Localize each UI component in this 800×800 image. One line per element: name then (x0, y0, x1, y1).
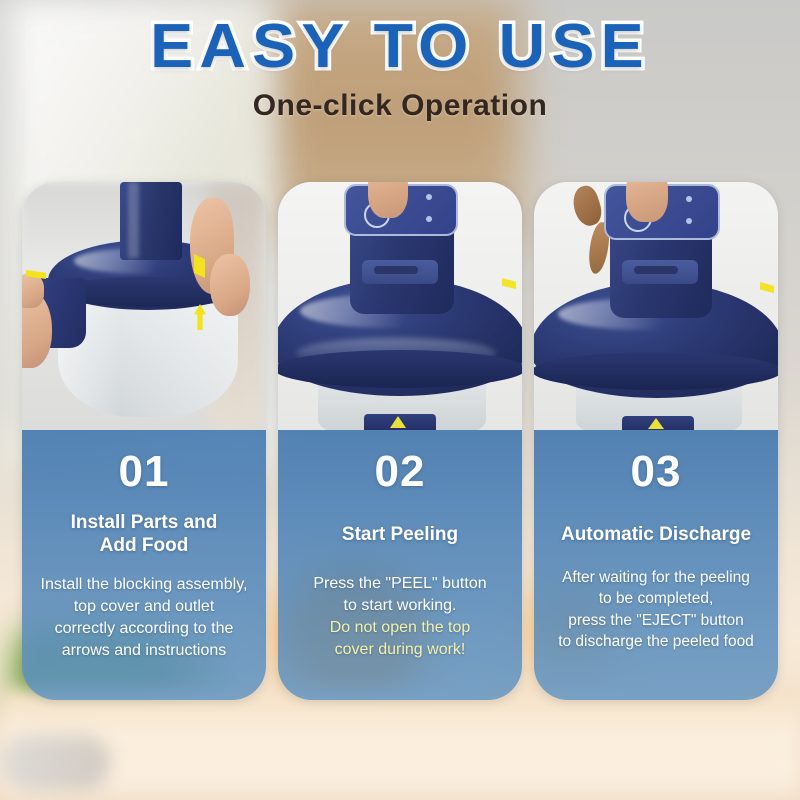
step-desc-02-line2: to start working. (344, 597, 457, 614)
step-desc-02-line1: Press the "PEEL" button (313, 575, 486, 592)
step-title-01-line2: Add Food (100, 535, 189, 556)
step-desc-01-line2: top cover and outlet (74, 598, 215, 615)
page-subtitle: One-click Operation (0, 89, 800, 123)
step-desc-03-line3: press the "EJECT" button (568, 612, 744, 629)
background-countertop-edge (0, 757, 800, 800)
step-desc-02-warn1: Do not open the top (330, 619, 471, 636)
product-infographic-poster: EASY TO USE One-click Operation (0, 0, 800, 800)
step-caption-03: 03 Automatic Discharge After waiting for… (534, 430, 778, 700)
step-caption-02: 02 Start Peeling Press the "PEEL" button… (278, 430, 522, 700)
step-card-03: 03 Automatic Discharge After waiting for… (534, 182, 778, 700)
step-photo-01 (22, 182, 266, 430)
step-card-01: 01 Install Parts and Add Food Install th… (22, 182, 266, 700)
step-title-03: Automatic Discharge (542, 524, 770, 547)
step-title-01: Install Parts and Add Food (30, 512, 258, 558)
step-desc-03-line1: After waiting for the peeling (562, 569, 750, 586)
step-number-01: 01 (30, 450, 258, 494)
step-desc-01-line4: arrows and instructions (62, 642, 227, 659)
step-number-03: 03 (542, 450, 770, 494)
step-desc-01: Install the blocking assembly, top cover… (30, 574, 258, 662)
step-card-02: 02 Start Peeling Press the "PEEL" button… (278, 182, 522, 700)
step-caption-01: 01 Install Parts and Add Food Install th… (22, 430, 266, 700)
poster-header: EASY TO USE One-click Operation (0, 0, 800, 123)
step-desc-03-line4: to discharge the peeled food (558, 633, 754, 650)
step-title-01-line1: Install Parts and (71, 512, 218, 533)
step-number-02: 02 (286, 450, 514, 494)
step-desc-02: Press the "PEEL" button to start working… (286, 573, 514, 661)
pressing-finger (368, 182, 408, 218)
background-utensil (0, 735, 110, 790)
step-desc-01-line3: correctly according to the (55, 620, 234, 637)
step-desc-02-warn2: cover during work! (335, 641, 466, 658)
step-desc-01-line1: Install the blocking assembly, (41, 576, 248, 593)
step-photo-03 (534, 182, 778, 430)
step-title-02: Start Peeling (286, 524, 514, 547)
step-desc-03: After waiting for the peeling to be comp… (542, 567, 770, 653)
pressing-finger (626, 182, 668, 222)
page-title: EASY TO USE (0, 14, 800, 79)
step-photo-02 (278, 182, 522, 430)
step-card-list: 01 Install Parts and Add Food Install th… (22, 182, 778, 700)
step-desc-03-line2: to be completed, (599, 590, 714, 607)
